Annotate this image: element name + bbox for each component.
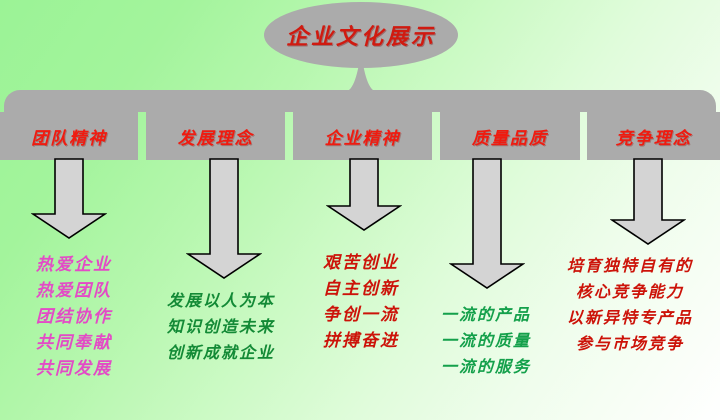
heading-label: 竞争理念 (616, 124, 692, 149)
culture-chart-canvas: 企业文化展示 团队精神 发展理念 企业精神 质量品质 竞争理念 (0, 0, 720, 420)
title-ellipse: 企业文化展示 (264, 2, 458, 68)
column-line: 参与市场竞争 (542, 331, 718, 357)
column-line: 创新成就企业 (145, 340, 297, 366)
column-line: 艰苦创业 (297, 250, 425, 276)
heading-gap (285, 112, 293, 160)
column-line: 核心竞争能力 (542, 279, 718, 305)
text-column-quality: 一流的产品 一流的质量 一流的服务 (424, 302, 548, 380)
arrow-down-4 (449, 158, 525, 290)
heading-gap (138, 112, 146, 160)
text-column-enterprise-spirit: 艰苦创业 自主创新 争创一流 拼搏奋进 (297, 250, 425, 354)
column-line: 一流的产品 (424, 302, 548, 328)
heading-box-enterprise-spirit[interactable]: 企业精神 (293, 112, 432, 160)
text-column-team-spirit: 热爱企业 热爱团队 团结协作 共同奉献 共同发展 (4, 252, 144, 382)
heading-gap (580, 112, 588, 160)
column-line: 以新异特专产品 (542, 305, 718, 331)
heading-box-development-philosophy[interactable]: 发展理念 (146, 112, 284, 160)
arrow-down-1 (31, 158, 107, 240)
text-column-competition-philosophy: 培育独特自有的 核心竞争能力 以新异特专产品 参与市场竞争 (542, 253, 718, 357)
column-line: 热爱企业 (4, 252, 144, 278)
column-line: 共同发展 (4, 356, 144, 382)
column-line: 知识创造未来 (145, 314, 297, 340)
arrow-down-5 (610, 158, 686, 246)
heading-label: 团队精神 (31, 124, 107, 149)
text-column-development-philosophy: 发展以人为本 知识创造未来 创新成就企业 (145, 288, 297, 366)
heading-box-row: 团队精神 发展理念 企业精神 质量品质 竞争理念 (0, 112, 720, 160)
heading-label: 质量品质 (472, 124, 548, 149)
arrow-down-2 (186, 158, 262, 280)
bracket-bar (4, 90, 716, 112)
heading-label: 企业精神 (324, 124, 400, 149)
column-line: 团结协作 (4, 304, 144, 330)
column-line: 一流的质量 (424, 328, 548, 354)
column-line: 培育独特自有的 (542, 253, 718, 279)
heading-box-quality[interactable]: 质量品质 (440, 112, 579, 160)
heading-label: 发展理念 (178, 124, 254, 149)
page-title: 企业文化展示 (286, 19, 436, 51)
column-line: 争创一流 (297, 302, 425, 328)
column-line: 一流的服务 (424, 354, 548, 380)
column-line: 发展以人为本 (145, 288, 297, 314)
heading-box-team-spirit[interactable]: 团队精神 (0, 112, 138, 160)
column-line: 热爱团队 (4, 278, 144, 304)
column-line: 自主创新 (297, 276, 425, 302)
heading-box-competition-philosophy[interactable]: 竞争理念 (587, 112, 720, 160)
heading-gap (432, 112, 440, 160)
column-line: 拼搏奋进 (297, 328, 425, 354)
column-line: 共同奉献 (4, 330, 144, 356)
arrow-down-3 (326, 158, 402, 232)
